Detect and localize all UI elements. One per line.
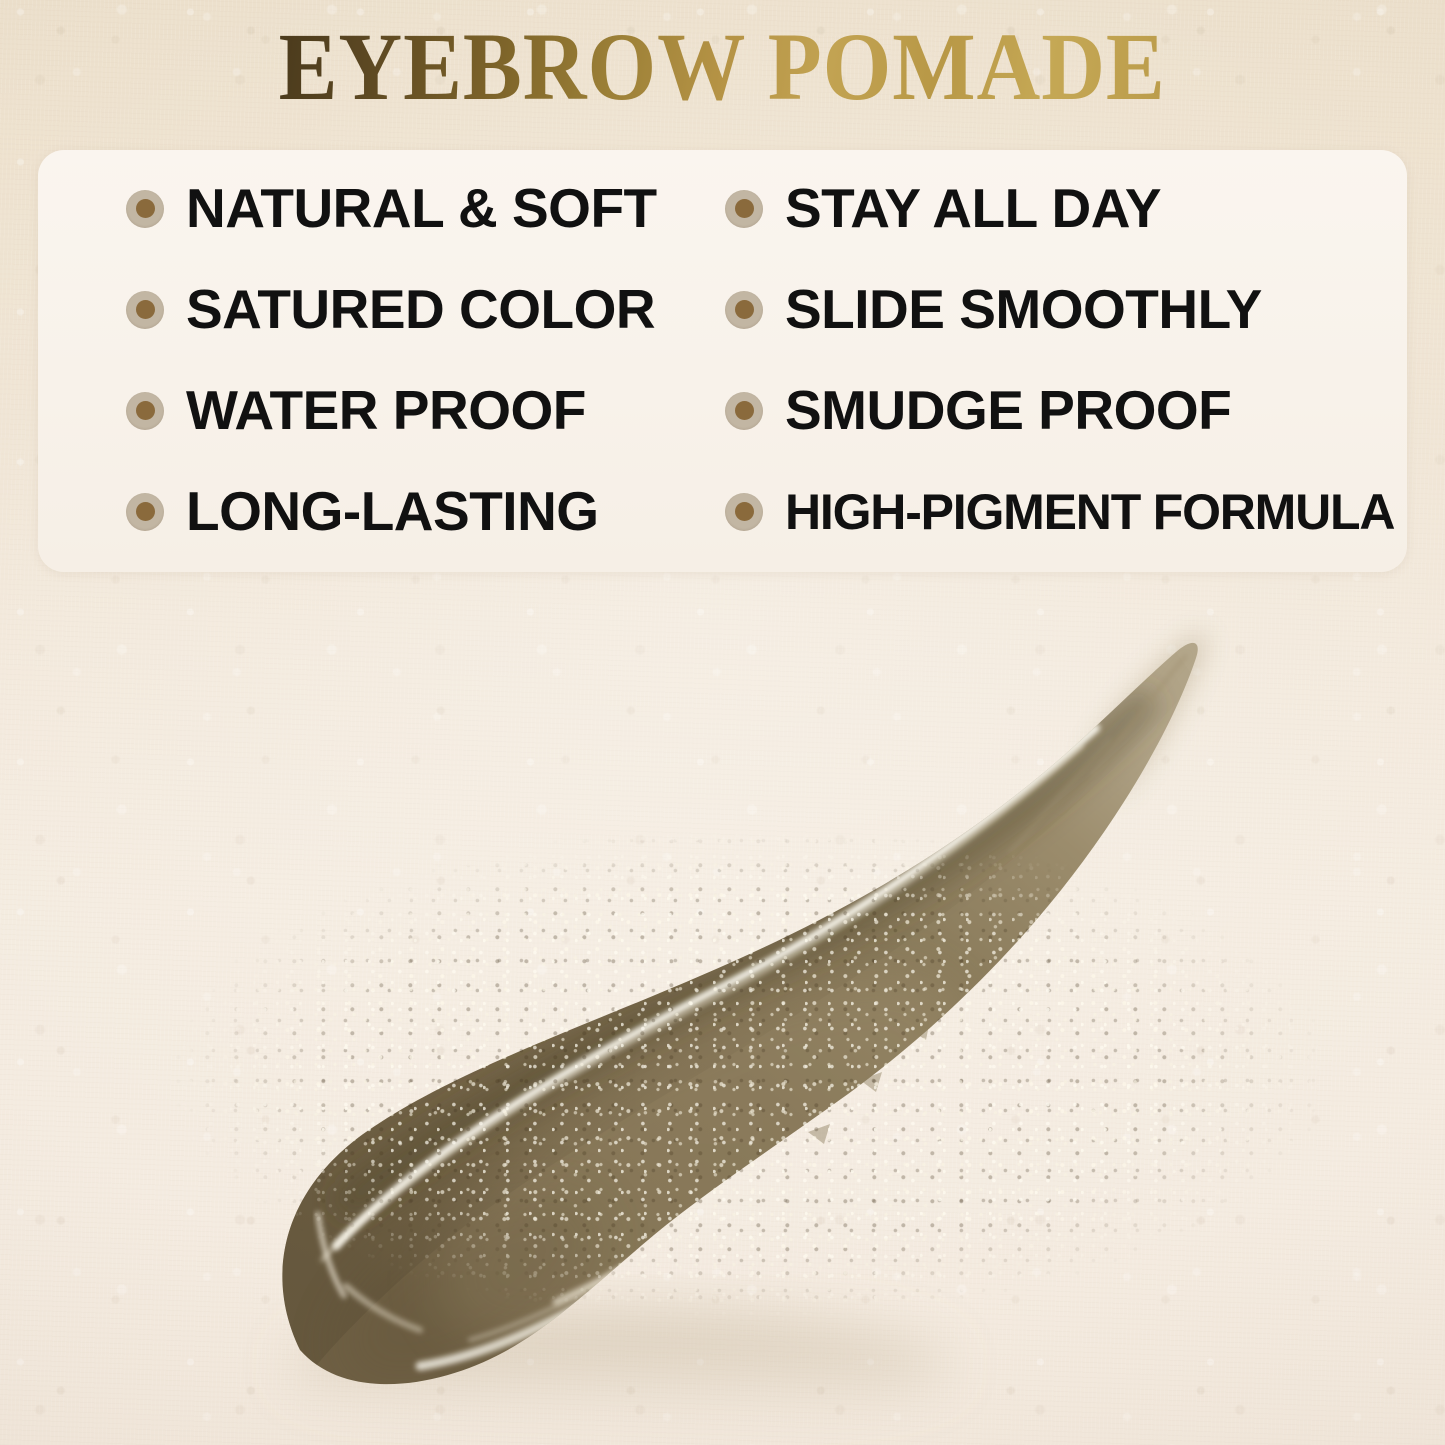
feature-label: WATER PROOF: [186, 383, 586, 438]
feature-label: NATURAL & SOFT: [186, 181, 657, 236]
feature-item-stay-all-day: STAY ALL DAY: [663, 181, 1407, 236]
feature-item-smudge-proof: SMUDGE PROOF: [663, 383, 1407, 438]
feature-label: SATURED COLOR: [186, 282, 655, 337]
feature-list: NATURAL & SOFT STAY ALL DAY SATURED COLO…: [38, 150, 1407, 572]
bullet-dot-icon: [126, 190, 164, 228]
bullet-dot-icon: [725, 291, 763, 329]
product-swatch-graphic: [0, 560, 1445, 1445]
feature-item-slide-smoothly: SLIDE SMOOTHLY: [663, 282, 1407, 337]
bullet-dot-icon: [725, 190, 763, 228]
page-title-wrap: EYEBROW POMADE: [0, 18, 1445, 116]
page-title: EYEBROW POMADE: [279, 18, 1166, 116]
bullet-dot-icon: [126, 493, 164, 531]
feature-item-water-proof: WATER PROOF: [38, 383, 663, 438]
product-swatch: [0, 560, 1445, 1445]
bullet-dot-icon: [725, 392, 763, 430]
feature-label: SLIDE SMOOTHLY: [785, 282, 1262, 337]
feature-item-long-lasting: LONG-LASTING: [38, 484, 663, 539]
feature-item-high-pigment-formula: HIGH-PIGMENT FORMULA: [663, 487, 1407, 537]
bullet-dot-icon: [725, 493, 763, 531]
feature-label: SMUDGE PROOF: [785, 383, 1231, 438]
feature-label: STAY ALL DAY: [785, 181, 1161, 236]
feature-label: HIGH-PIGMENT FORMULA: [785, 487, 1394, 537]
feature-item-natural-soft: NATURAL & SOFT: [38, 181, 663, 236]
product-infographic: EYEBROW POMADE: [0, 0, 1445, 1445]
bullet-dot-icon: [126, 392, 164, 430]
feature-item-satured-color: SATURED COLOR: [38, 282, 663, 337]
bullet-dot-icon: [126, 291, 164, 329]
feature-card: NATURAL & SOFT STAY ALL DAY SATURED COLO…: [38, 150, 1407, 572]
feature-label: LONG-LASTING: [186, 484, 599, 539]
